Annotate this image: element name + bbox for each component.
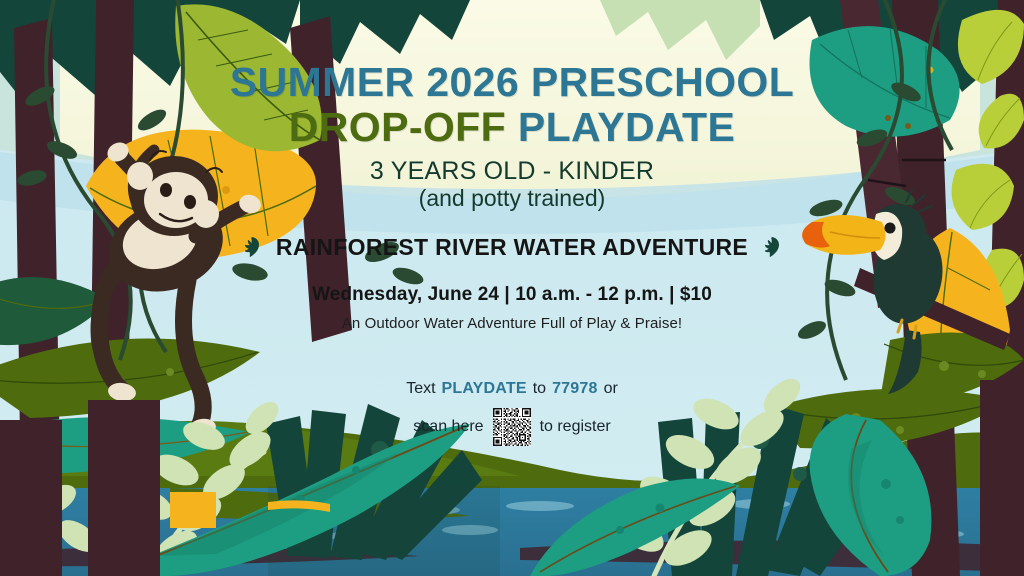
to-label: to (533, 374, 546, 404)
event-tagline: An Outdoor Water Adventure Full of Play … (0, 315, 1024, 332)
headline-age-range: 3 YEARS OLD - KINDER (0, 157, 1024, 185)
event-details-block: RAINFOREST RIVER WATER ADVENTURE Wednesd… (0, 234, 1024, 332)
text-label: Text (406, 374, 435, 404)
headline-potty-note: (and potty trained) (0, 186, 1024, 212)
monstera-leaf-icon-left (239, 235, 265, 261)
headline-line-2: DROP-OFF PLAYDATE (0, 106, 1024, 149)
registration-scan-line: scan here (0, 408, 1024, 446)
scan-here-label: scan here (413, 412, 483, 442)
registration-block: Text PLAYDATE to 77978 or scan here (0, 374, 1024, 446)
keyword-playdate: PLAYDATE (442, 374, 527, 404)
headline-playdate: PLAYDATE (518, 104, 735, 150)
accent-gold-left (170, 492, 216, 528)
shortcode-number: 77978 (552, 374, 598, 404)
toucan-eye (885, 223, 896, 234)
qr-code-icon[interactable] (493, 408, 531, 446)
headline-dropoff: DROP-OFF (289, 104, 506, 150)
adventure-title-text: RAINFOREST RIVER WATER ADVENTURE (276, 234, 748, 261)
event-datetime-price: Wednesday, June 24 | 10 a.m. - 12 p.m. |… (0, 284, 1024, 306)
registration-text-line: Text PLAYDATE to 77978 or (0, 374, 1024, 404)
adventure-title-row: RAINFOREST RIVER WATER ADVENTURE (0, 234, 1024, 261)
headline-block: SUMMER 2026 PRESCHOOL DROP-OFF PLAYDATE … (0, 62, 1024, 212)
rainforest-playdate-flyer: SUMMER 2026 PRESCHOOL DROP-OFF PLAYDATE … (0, 0, 1024, 576)
to-register-label: to register (540, 412, 611, 442)
headline-line-1: SUMMER 2026 PRESCHOOL (0, 62, 1024, 104)
or-label: or (604, 374, 618, 404)
monstera-leaf-icon-right (759, 235, 785, 261)
